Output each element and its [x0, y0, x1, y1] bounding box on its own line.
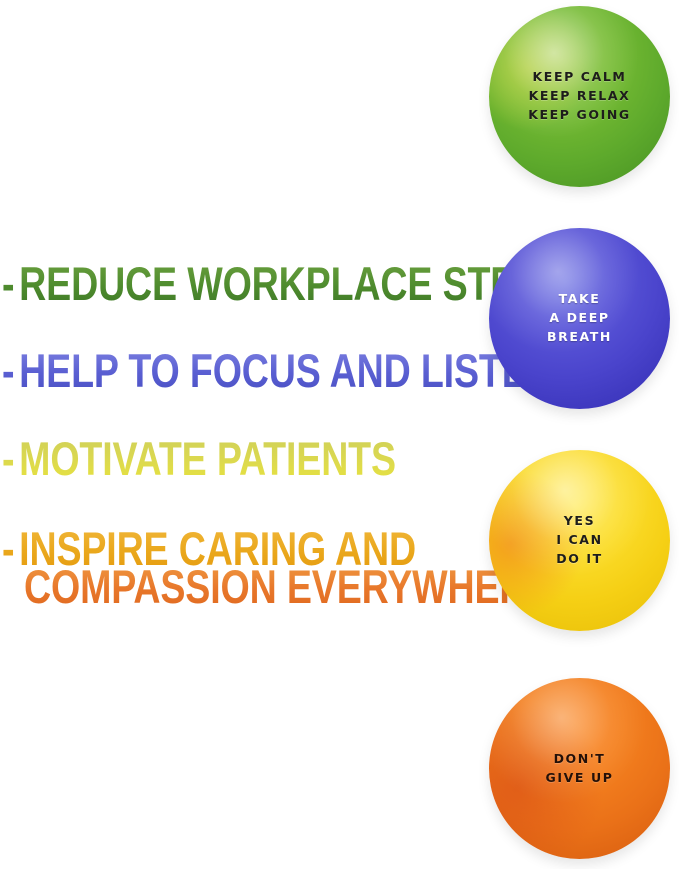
stress-ball-column: KEEP CALM KEEP RELAX KEEP GOING TAKE A D…	[470, 0, 679, 869]
bullet-dash-3: -	[2, 522, 14, 575]
stress-ball-yellow-text: YES I CAN DO IT	[556, 512, 603, 568]
benefit-label-2: MOTIVATE PATIENTS	[19, 432, 396, 485]
benefit-list: -REDUCE WORKPLACE STRESS -HELP TO FOCUS …	[0, 0, 470, 869]
bullet-dash-1: -	[2, 344, 14, 397]
stress-ball-green: KEEP CALM KEEP RELAX KEEP GOING	[489, 6, 670, 187]
benefit-item-motivate-patients: -MOTIVATE PATIENTS	[2, 435, 396, 482]
stress-ball-orange-text: DON'T GIVE UP	[546, 750, 614, 788]
stress-ball-blue-text: TAKE A DEEP BREATH	[547, 290, 612, 346]
stress-ball-yellow: YES I CAN DO IT	[489, 450, 670, 631]
stress-ball-orange: DON'T GIVE UP	[489, 678, 670, 859]
stress-ball-blue: TAKE A DEEP BREATH	[489, 228, 670, 409]
stress-ball-green-text: KEEP CALM KEEP RELAX KEEP GOING	[528, 68, 631, 124]
product-feature-graphic: -REDUCE WORKPLACE STRESS -HELP TO FOCUS …	[0, 0, 679, 869]
bullet-dash-0: -	[2, 257, 14, 310]
bullet-dash-2: -	[2, 432, 14, 485]
